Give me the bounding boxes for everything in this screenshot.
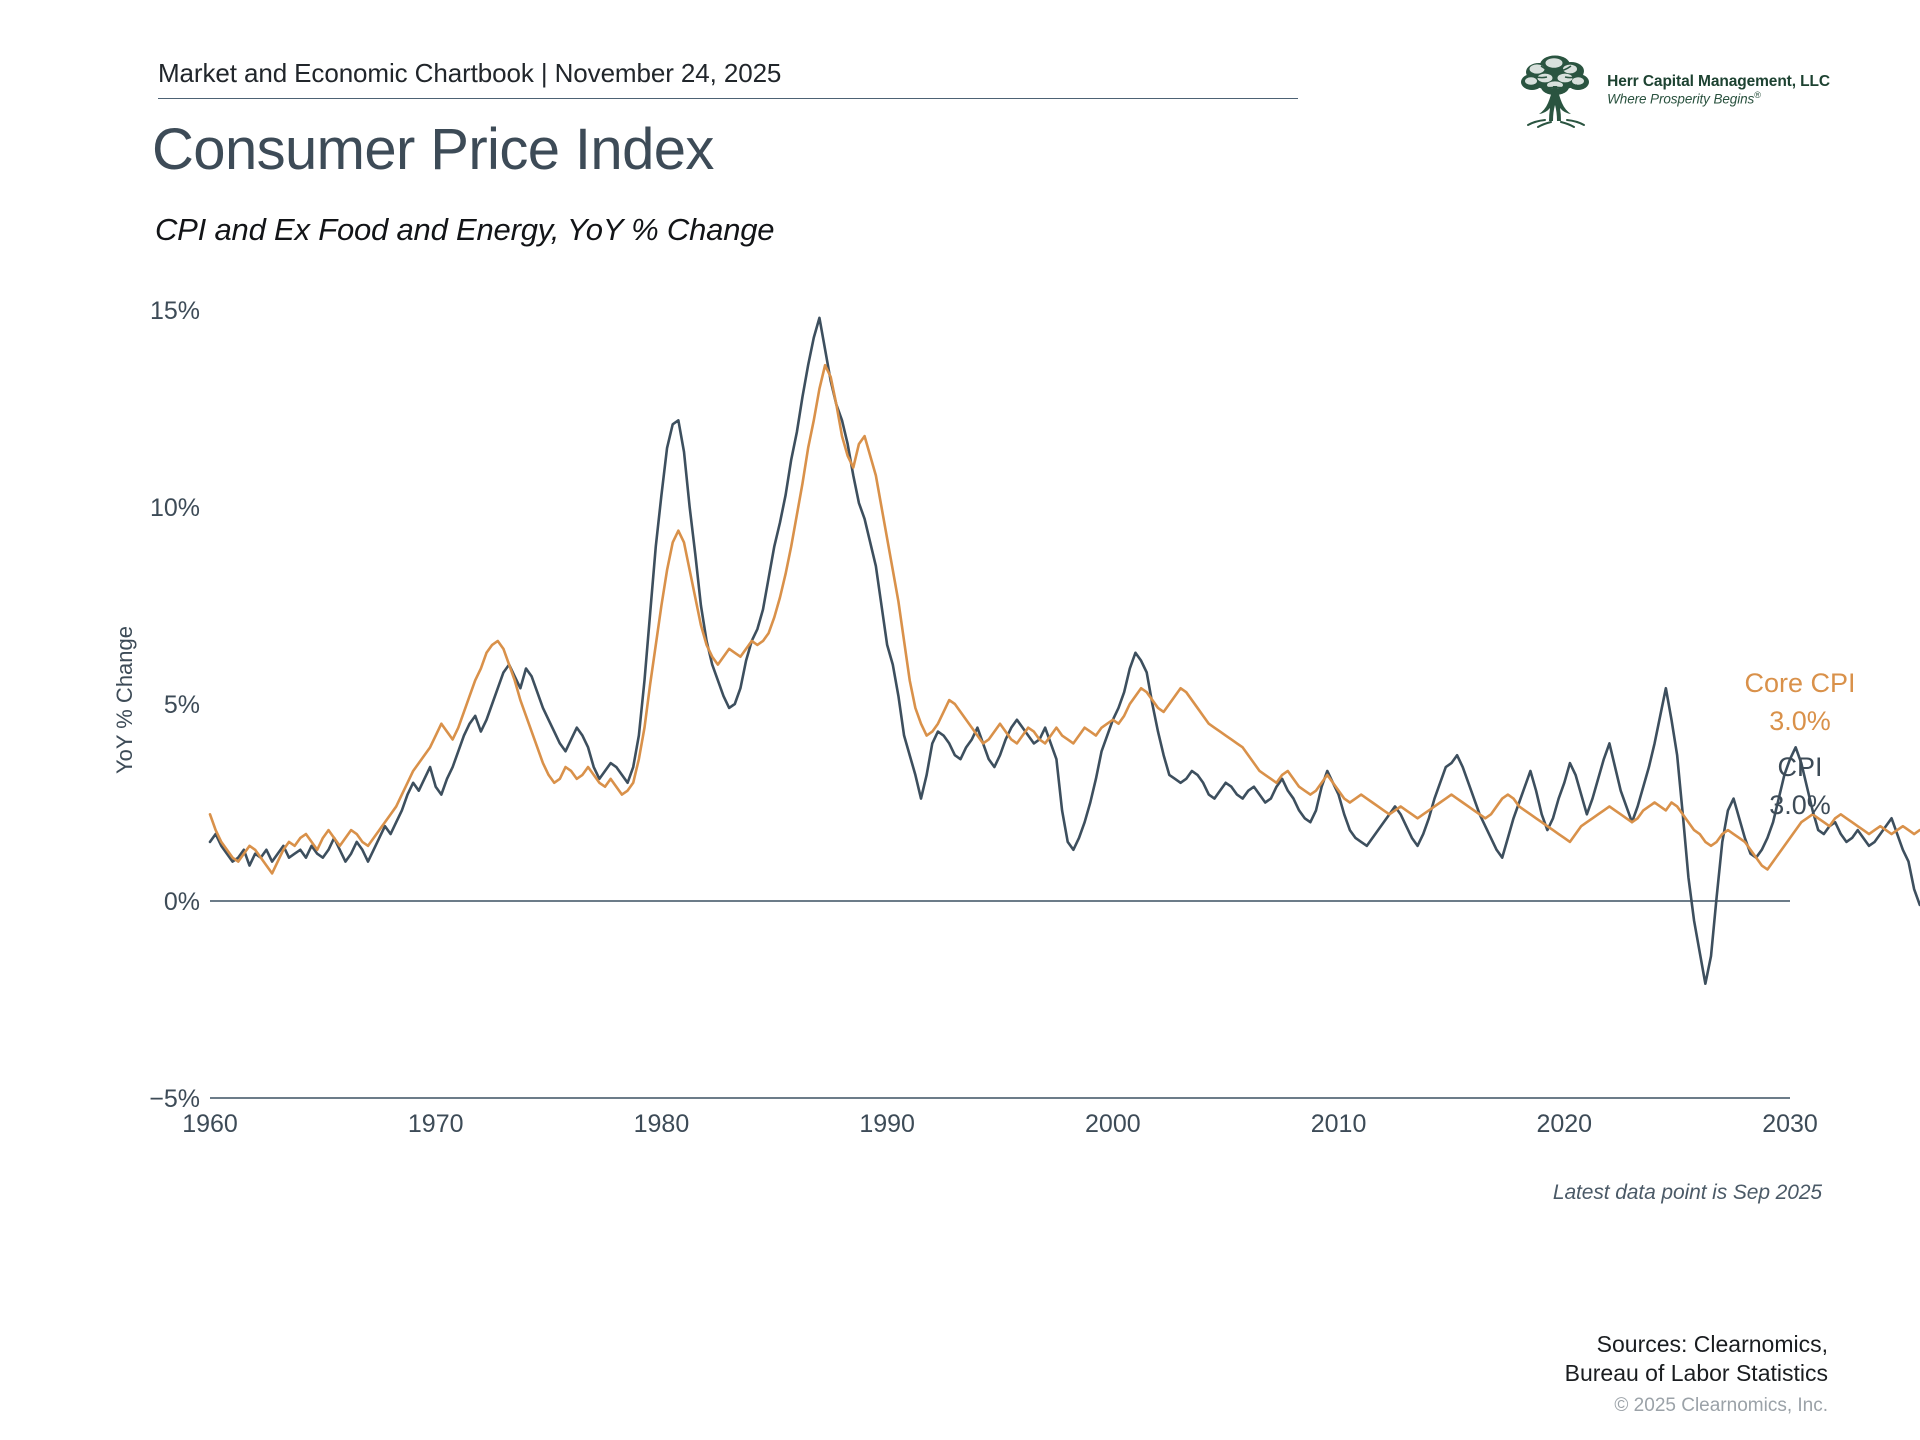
logo-company-name: Herr Capital Management, LLC <box>1607 73 1830 90</box>
sources-line-1: Sources: Clearnomics, <box>1565 1330 1828 1359</box>
x-axis-tick-3: 1990 <box>859 1110 915 1138</box>
chartbook-kicker: Market and Economic Chartbook | November… <box>158 58 1298 89</box>
registered-mark-icon: ® <box>1754 90 1761 100</box>
x-axis-tick-1: 1970 <box>408 1110 464 1138</box>
data-series <box>210 318 1920 984</box>
x-axis-tick-6: 2020 <box>1536 1110 1592 1138</box>
axis-lines <box>210 901 1790 1098</box>
logo-tagline-text: Where Prosperity Begins <box>1607 92 1754 107</box>
y-axis-tick-labels: −5%0%5%10%15% <box>149 297 200 1113</box>
logo-wordmark: Herr Capital Management, LLC Where Prosp… <box>1607 73 1830 107</box>
x-axis-tick-0: 1960 <box>182 1110 238 1138</box>
page-subtitle: CPI and Ex Food and Energy, YoY % Change <box>155 212 774 248</box>
series-inline-labels: CPI3.0%Core CPI3.0% <box>1744 668 1855 820</box>
x-axis-tick-5: 2010 <box>1311 1110 1367 1138</box>
tree-icon <box>1515 52 1597 128</box>
y-axis-tick-1: 0% <box>164 888 200 916</box>
header-divider <box>158 98 1298 99</box>
series-value-cpi: 3.0% <box>1769 790 1831 820</box>
y-axis-tick-0: −5% <box>149 1085 200 1113</box>
series-label-core-cpi: Core CPI <box>1744 668 1855 698</box>
page-title: Consumer Price Index <box>152 120 714 181</box>
sources-footer: Sources: Clearnomics, Bureau of Labor St… <box>1565 1330 1828 1417</box>
y-axis-tick-3: 10% <box>150 494 200 522</box>
y-axis-tick-4: 15% <box>150 297 200 325</box>
x-axis-tick-labels: 19601970198019902000201020202030 <box>182 1110 1818 1138</box>
company-logo: Herr Capital Management, LLC Where Prosp… <box>1515 52 1830 128</box>
series-line-core-cpi <box>210 365 1920 873</box>
copyright-notice: © 2025 Clearnomics, Inc. <box>1565 1395 1828 1417</box>
series-line-cpi <box>210 318 1920 984</box>
x-axis-tick-4: 2000 <box>1085 1110 1141 1138</box>
series-label-cpi: CPI <box>1777 752 1822 782</box>
sources-line-2: Bureau of Labor Statistics <box>1565 1359 1828 1388</box>
y-axis-title: YoY % Change <box>112 626 137 774</box>
y-axis-tick-2: 5% <box>164 691 200 719</box>
x-axis-tick-2: 1980 <box>634 1110 690 1138</box>
chartbook-header: Market and Economic Chartbook | November… <box>158 58 1298 99</box>
series-value-core-cpi: 3.0% <box>1769 706 1831 736</box>
latest-data-note: Latest data point is Sep 2025 <box>1553 1181 1822 1205</box>
x-axis-tick-7: 2030 <box>1762 1110 1818 1138</box>
logo-tagline: Where Prosperity Begins® <box>1607 90 1830 107</box>
